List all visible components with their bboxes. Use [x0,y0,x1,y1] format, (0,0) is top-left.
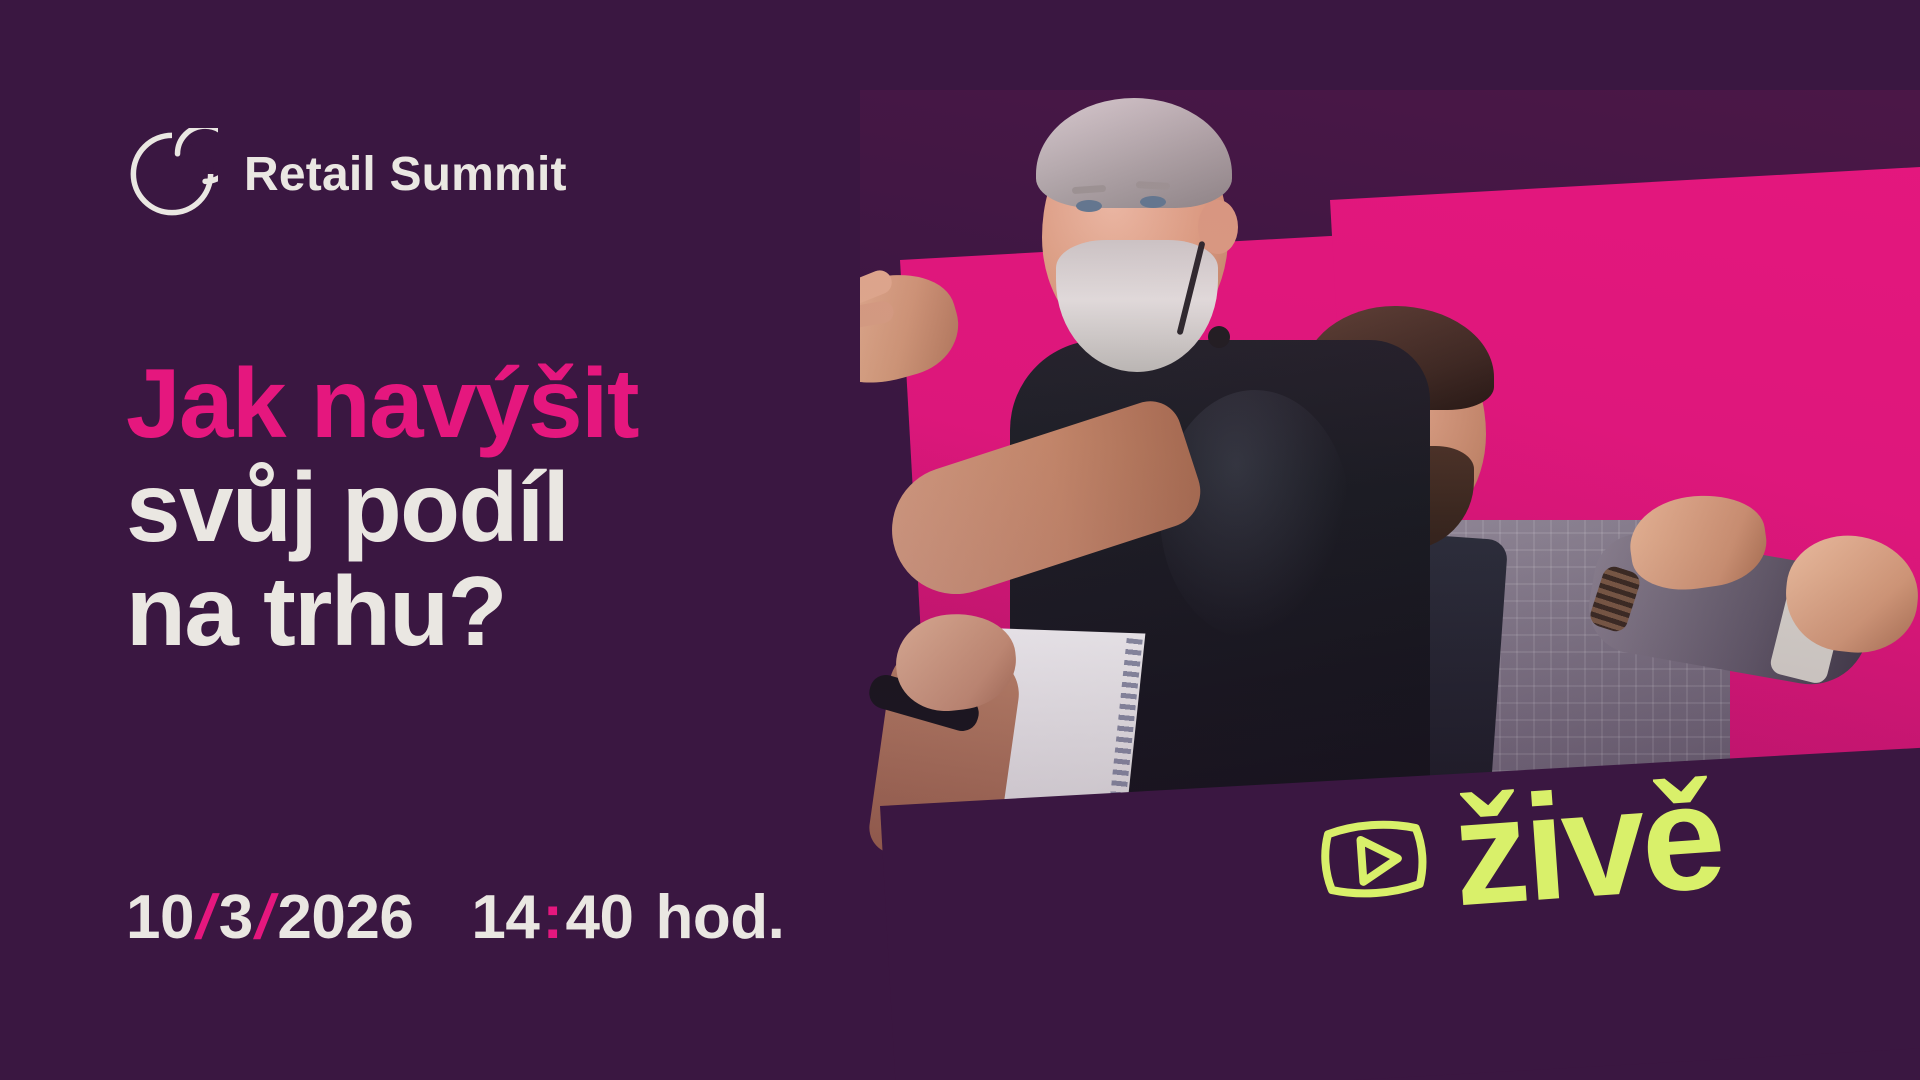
time-suffix: hod. [655,882,784,953]
live-label: živě [1449,772,1725,916]
live-badge: živě [1314,772,1725,926]
time-hour: 14 [471,882,539,953]
play-button-icon [1315,811,1433,907]
event-time: 14 : 40 hod. [471,882,784,953]
headline-line-2: svůj podíl [126,456,886,560]
time-separator: : [539,882,565,953]
headline-line-3: na trhu? [126,560,886,664]
date-year: 2026 [277,882,413,953]
event-datetime: 10 / 3 / 2026 14 : 40 hod. [126,882,784,953]
brand-lockup: Retail Summit [126,128,567,220]
event-date: 10 / 3 / 2026 [126,882,413,953]
date-day: 10 [126,882,194,953]
speaker-a-eye-right [1140,196,1166,208]
speaker-a-eye-left [1076,200,1102,212]
headline-line-1: Jak navýšit [126,352,886,456]
speaker-a-mic-capsule [1208,326,1230,348]
promo-banner: Retail Summit Jak navýšit svůj podíl na … [0,0,1920,1080]
retail-summit-spiral-logo-icon [126,128,218,220]
brand-name: Retail Summit [244,147,567,202]
time-minute: 40 [565,882,633,953]
speaker-a-hair [1036,98,1232,208]
headline: Jak navýšit svůj podíl na trhu? [126,352,886,664]
